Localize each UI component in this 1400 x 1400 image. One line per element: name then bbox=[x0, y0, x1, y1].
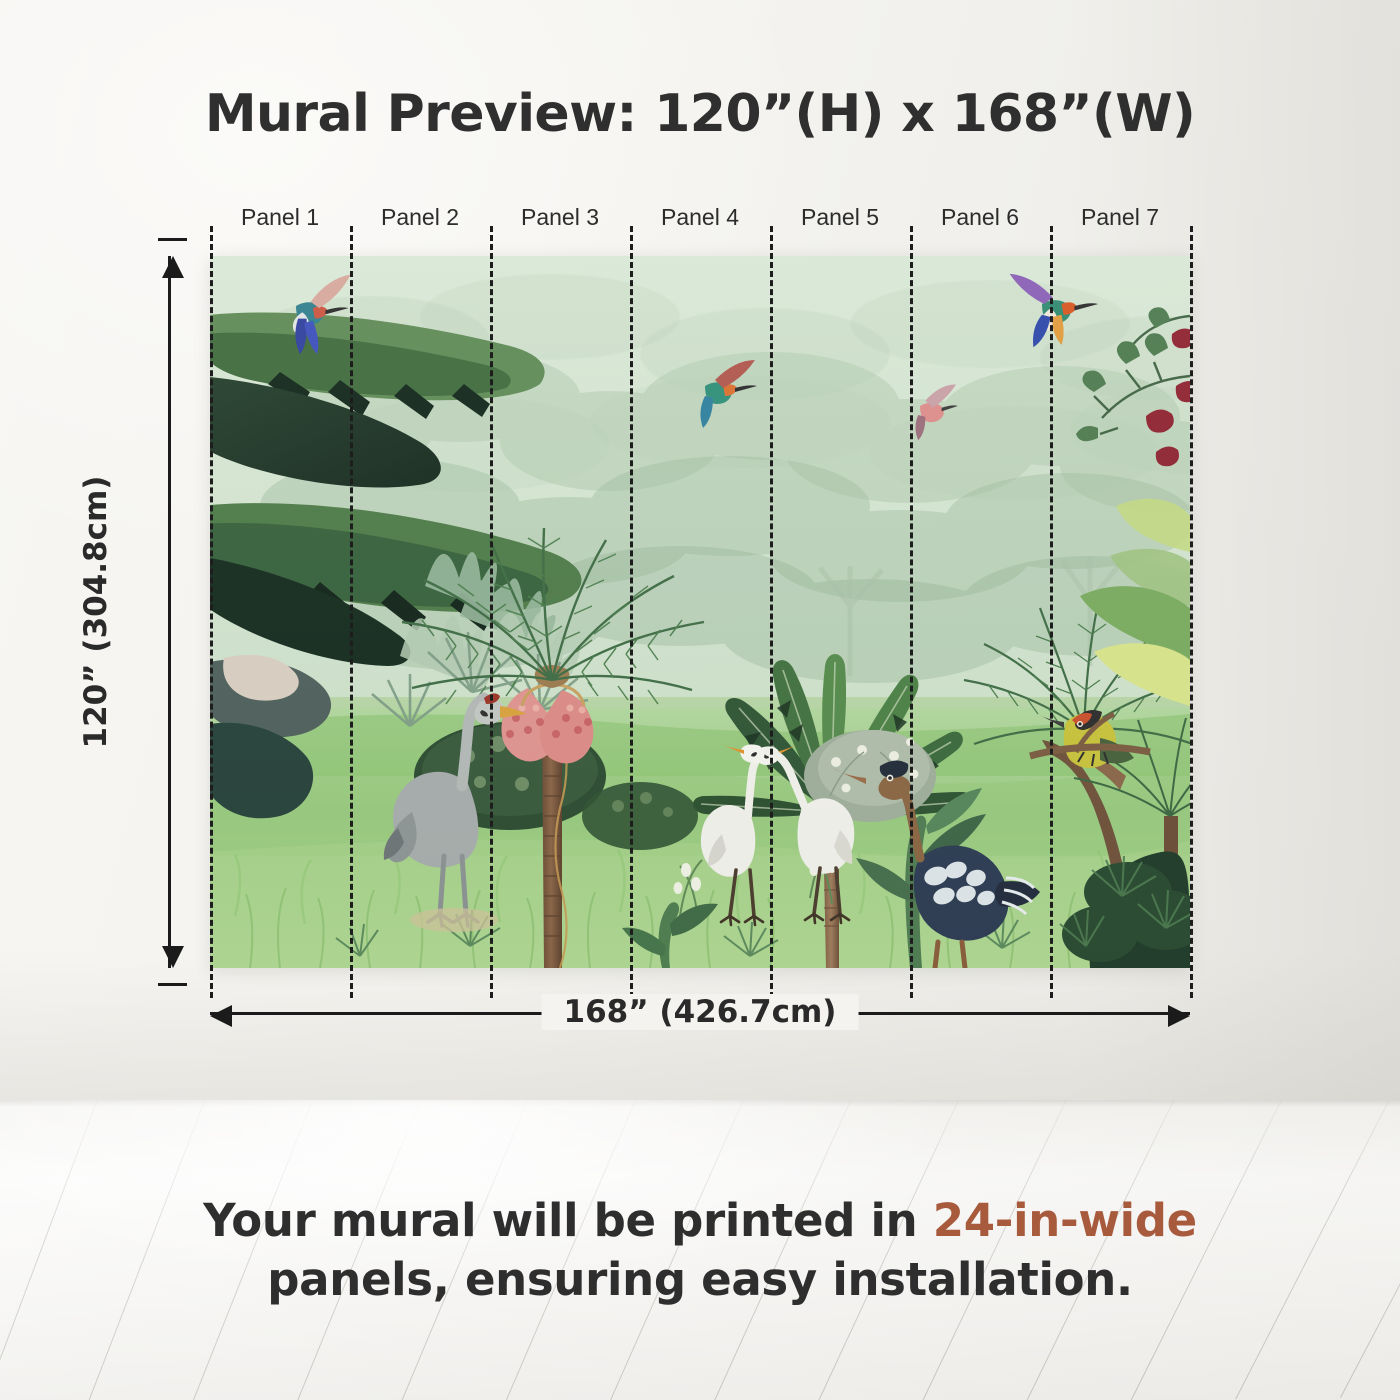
caption-lead: Your mural will be printed in bbox=[203, 1194, 933, 1247]
panel-divider-3 bbox=[630, 226, 633, 998]
height-arrow-bottom bbox=[162, 946, 184, 968]
height-arrow-top bbox=[162, 256, 184, 278]
panel-divider-0 bbox=[210, 226, 213, 998]
mural-artwork[interactable] bbox=[210, 256, 1190, 968]
panel-label-5: Panel 5 bbox=[801, 204, 879, 231]
caption-line-2: panels, ensuring easy installation. bbox=[0, 1251, 1400, 1310]
panel-divider-1 bbox=[350, 226, 353, 998]
panel-divider-5 bbox=[910, 226, 913, 998]
caption-line-1: Your mural will be printed in 24-in-wide bbox=[0, 1192, 1400, 1251]
caption-highlight: 24-in-wide bbox=[933, 1194, 1197, 1247]
panel-divider-2 bbox=[490, 226, 493, 998]
panel-label-4: Panel 4 bbox=[661, 204, 739, 231]
height-cap-top bbox=[158, 238, 187, 241]
footer-caption: Your mural will be printed in 24-in-wide… bbox=[0, 1192, 1400, 1309]
panel-divider-4 bbox=[770, 226, 773, 998]
panel-label-6: Panel 6 bbox=[941, 204, 1019, 231]
width-dimension-label: 168” (426.7cm) bbox=[542, 994, 859, 1030]
panel-divider-6 bbox=[1050, 226, 1053, 998]
panel-label-3: Panel 3 bbox=[521, 204, 599, 231]
page-title: Mural Preview: 120”(H) x 168”(W) bbox=[0, 84, 1400, 144]
height-dimension-line bbox=[168, 256, 171, 968]
panel-label-2: Panel 2 bbox=[381, 204, 459, 231]
panel-label-7: Panel 7 bbox=[1081, 204, 1159, 231]
mural-preview-stage[interactable]: Panel 1Panel 2Panel 3Panel 4Panel 5Panel… bbox=[210, 256, 1190, 968]
height-dimension-label: 120” (304.8cm) bbox=[78, 476, 114, 749]
height-cap-bottom bbox=[158, 983, 187, 986]
width-arrow-left bbox=[210, 1005, 232, 1027]
width-arrow-right bbox=[1168, 1005, 1190, 1027]
floor-baseboard-edge bbox=[0, 1100, 1400, 1107]
mural-illustration bbox=[210, 256, 1190, 968]
panel-label-1: Panel 1 bbox=[241, 204, 319, 231]
panel-divider-7 bbox=[1190, 226, 1193, 998]
